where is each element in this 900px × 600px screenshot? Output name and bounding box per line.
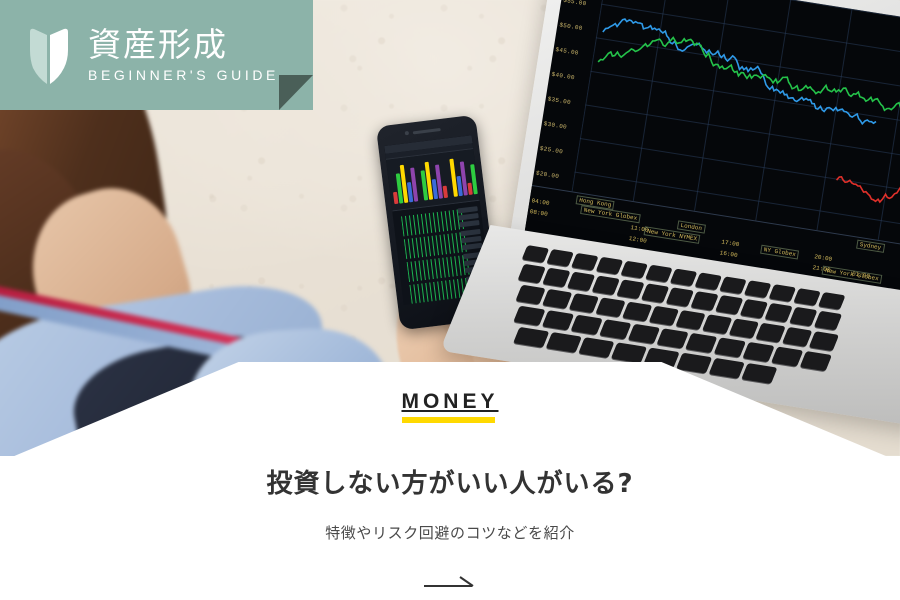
arrow-right-icon[interactable]: [422, 575, 478, 596]
article-header: MONEY 投資しない方がいい人がいる? 特徴やリスク回避のコツなどを紹介: [0, 390, 900, 596]
badge-subtitle: BEGINNER'S GUIDE: [88, 67, 279, 83]
page-title: 投資しない方がいい人がいる?: [0, 463, 900, 500]
page-subtitle: 特徴やリスク回避のコツなどを紹介: [0, 522, 900, 543]
badge-fold-corner: [279, 75, 313, 110]
badge-title: 資産形成: [88, 27, 279, 63]
phone-speaker: [413, 128, 441, 134]
category-link-money[interactable]: MONEY: [401, 390, 498, 423]
beginners-guide-badge: 資産形成 BEGINNER'S GUIDE: [0, 0, 313, 110]
page-root: $60.00$55.00$50.00$45.00$40.00$35.00$30.…: [0, 0, 900, 600]
wakaba-beginner-leaf-icon: [28, 24, 70, 86]
phone-camera: [405, 131, 409, 135]
